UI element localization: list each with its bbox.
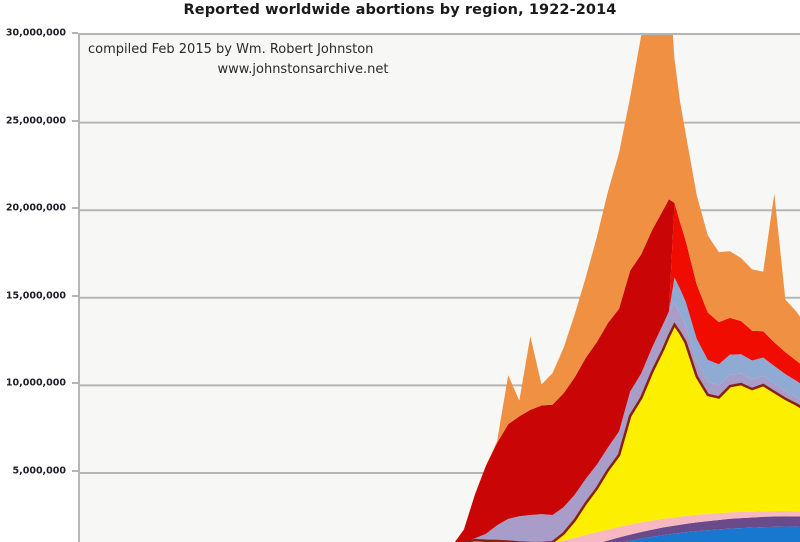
y-axis-tick-label: 15,000,000 <box>6 290 66 301</box>
plot-area <box>78 33 800 542</box>
y-axis-tick-label: 30,000,000 <box>6 28 66 39</box>
annotation-website: www.johnstonsarchive.net <box>88 60 518 80</box>
y-axis: 30,000,00025,000,00020,000,00015,000,000… <box>0 0 74 542</box>
annotation-credit: compiled Feb 2015 by Wm. Robert Johnston <box>88 40 518 60</box>
page-title: Reported worldwide abortions by region, … <box>0 2 800 18</box>
y-axis-tick-label: 10,000,000 <box>6 378 66 389</box>
y-axis-tick-label: 20,000,000 <box>6 203 66 214</box>
chart-annotation: compiled Feb 2015 by Wm. Robert Johnston… <box>88 40 518 80</box>
y-axis-tick-label: 5,000,000 <box>13 466 67 477</box>
stacked-area-plot <box>80 35 800 542</box>
chart-root: Reported worldwide abortions by region, … <box>0 0 800 542</box>
y-axis-tick-label: 25,000,000 <box>6 115 66 126</box>
